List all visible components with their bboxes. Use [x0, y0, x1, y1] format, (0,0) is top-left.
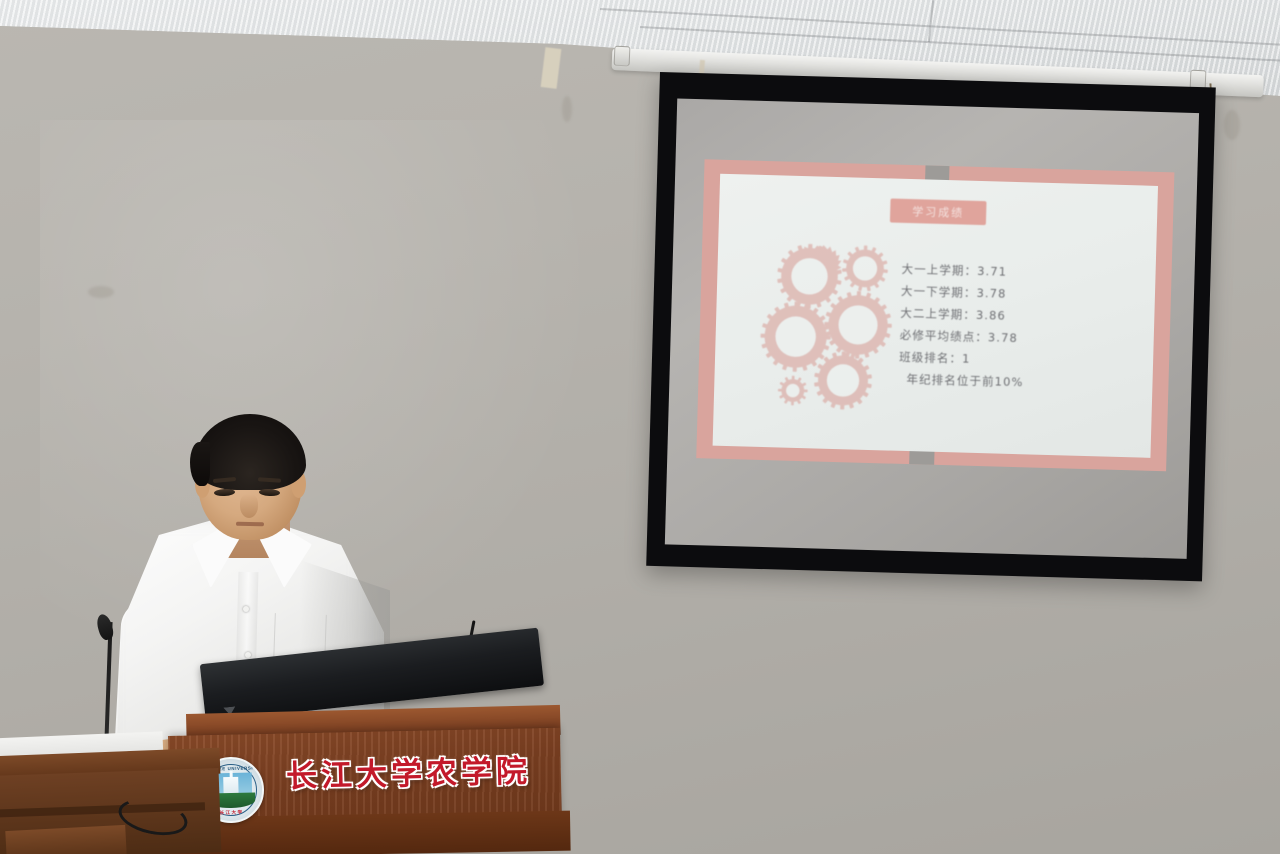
presentation-photo-scene: 学习成绩 — [0, 0, 1280, 854]
podium-sign-text: 长江大学农学院 — [286, 745, 553, 796]
shirt-button — [243, 606, 249, 612]
foreground-chair — [5, 825, 126, 854]
speaker-nose — [240, 494, 258, 518]
speaker-hair — [194, 414, 306, 490]
speaker-mouth — [236, 522, 264, 526]
shirt-button — [245, 652, 251, 658]
